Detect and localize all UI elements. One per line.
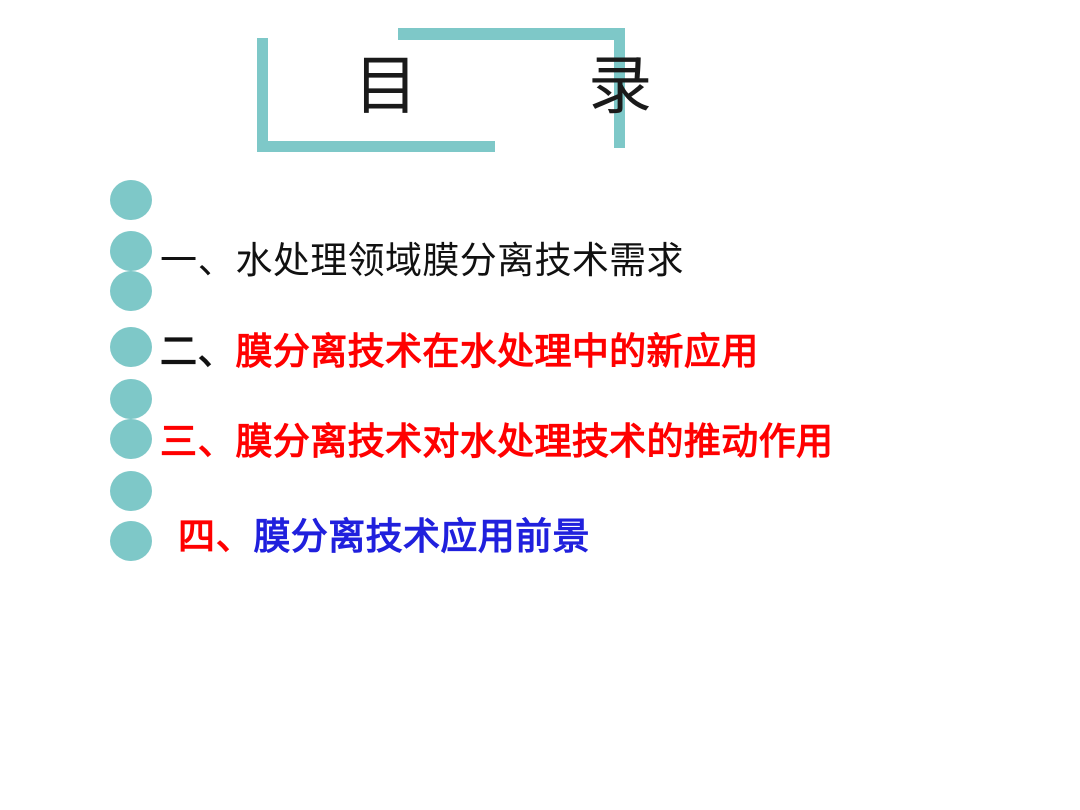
bullet-circle-icon (110, 379, 152, 419)
toc-item-label: 膜分离技术对水处理技术的推动作用 (235, 419, 833, 463)
toc-item-2[interactable]: 二、膜分离技术在水处理中的新应用 (160, 328, 759, 374)
page-title: 目 录 (300, 48, 720, 126)
bullet-circle-icon (110, 271, 152, 311)
toc-item-4[interactable]: 四、膜分离技术应用前景 (178, 513, 590, 559)
toc-item-label: 膜分离技术在水处理中的新应用 (235, 329, 758, 373)
bullet-circle-icon (110, 521, 152, 561)
toc-item-1[interactable]: 一、水处理领域膜分离技术需求 (160, 238, 684, 284)
bullet-circle-icon (110, 180, 152, 220)
right-bracket-horizontal-bar (398, 28, 625, 40)
bullet-circle-icon (110, 471, 152, 511)
toc-item-number: 三、 (160, 419, 235, 463)
presentation-slide: 目 录 一、水处理领域膜分离技术需求二、膜分离技术在水处理中的新应用三、膜分离技… (0, 0, 1080, 810)
bullet-circle-icon (110, 327, 152, 367)
toc-item-label: 膜分离技术应用前景 (253, 514, 589, 558)
toc-item-number: 四、 (178, 514, 253, 558)
toc-item-3[interactable]: 三、膜分离技术对水处理技术的推动作用 (160, 418, 833, 464)
toc-item-label: 水处理领域膜分离技术需求 (235, 239, 683, 282)
left-bracket-horizontal-bar (257, 141, 495, 152)
toc-item-number: 二、 (160, 329, 235, 373)
bullet-circle-icon (110, 231, 152, 271)
bullet-circle-icon (110, 419, 152, 459)
left-bracket-vertical-bar (257, 38, 268, 152)
toc-item-number: 一、 (160, 239, 235, 282)
